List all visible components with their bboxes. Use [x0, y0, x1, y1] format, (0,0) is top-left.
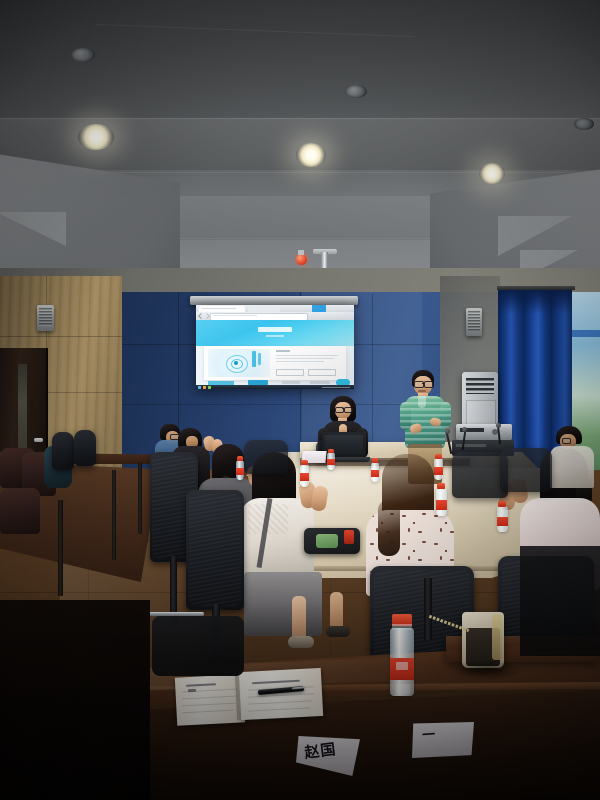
water-bottle-7-cap [372, 458, 378, 463]
card-body-line-3 [276, 361, 324, 362]
card-button-2[interactable] [308, 369, 336, 376]
empty-chair-5[interactable] [52, 432, 74, 470]
page-hero-banner [196, 320, 354, 346]
taskbar-app-icon-2[interactable] [208, 386, 211, 389]
seated-presenter-glasses-bridge [342, 408, 344, 409]
water-bottle-6-cap [498, 501, 506, 507]
downlight-left [78, 124, 114, 150]
foreground-shadow-left [0, 600, 150, 800]
taskbar-app-icon-1[interactable] [203, 386, 206, 389]
taskbar-start-icon[interactable] [198, 386, 201, 389]
water-bottle-3-cap [328, 449, 334, 453]
side-table-leg-2 [58, 500, 63, 596]
standing-presenter-glasses-right [424, 381, 434, 388]
water-bottle-6-label [497, 517, 508, 526]
standing-presenter-arm-right-stripes [440, 402, 451, 428]
product-vertical-text-2 [258, 353, 261, 365]
water-bottle-5-cap [435, 454, 442, 459]
downlight-center [296, 143, 326, 167]
wall-speaker-left-grill [39, 308, 52, 326]
name-card-front-right: 一 [412, 722, 474, 758]
water-bottle-1-label [236, 468, 244, 475]
water-bottle-2-label [300, 473, 309, 481]
audience-member-7-shirt [550, 446, 594, 488]
handbag-shadow [450, 660, 522, 680]
far-chair-1[interactable] [244, 440, 288, 474]
card-body-line-2 [276, 358, 334, 359]
recessed-can-right [574, 118, 594, 130]
audience-chair-right-1-stem [424, 578, 432, 640]
browser-url-text [213, 315, 257, 316]
handbag-gold-trim [492, 614, 502, 660]
wood-wall-seam-1 [0, 336, 122, 337]
hero-heading [258, 327, 292, 332]
audience-member-7-glasses [562, 438, 571, 444]
empty-chair-3[interactable] [0, 488, 40, 534]
standing-presenter-arm-left-stripes [400, 402, 411, 430]
hero-subheading [266, 335, 284, 337]
audience-member-4-skirt [244, 572, 322, 636]
water-bottle-4-label [436, 500, 447, 510]
water-bottle-8-neck [392, 624, 412, 630]
door-glass-panel [18, 364, 27, 456]
card-body-line-1 [276, 355, 338, 356]
standing-presenter-glasses-bridge [422, 383, 424, 384]
standing-presenter-smile [418, 390, 426, 392]
water-bottle-3-label [327, 459, 335, 465]
screen-roller-housing [190, 296, 358, 305]
seated-presenter-glasses-right [344, 407, 353, 413]
door-handle[interactable] [34, 438, 43, 442]
water-bottle-1-cap [237, 456, 243, 461]
amp-rack-vent [456, 444, 486, 447]
product-dot [234, 361, 238, 365]
microphone-head-3 [496, 423, 501, 428]
audience-member-5-shoe [326, 626, 350, 637]
recessed-can-left [71, 48, 95, 62]
recessed-can-center [345, 85, 367, 98]
taskbar-clock [322, 387, 350, 388]
table-red-item [344, 530, 354, 544]
water-bottle-2-cap [301, 460, 308, 465]
water-bottle-4-cap [437, 483, 445, 489]
card-button-1[interactable] [276, 369, 304, 376]
audience-member-5-hair-strand [378, 500, 400, 556]
water-bottle-7-label [371, 470, 379, 477]
side-table-leg-3 [138, 462, 142, 534]
stat-label-2 [282, 381, 300, 384]
stat-label-3 [310, 381, 330, 384]
card-title [276, 350, 290, 352]
fire-sprinkler-head [296, 254, 307, 265]
water-bottle-8-label-text [396, 662, 408, 670]
side-table-leg-1 [112, 470, 116, 560]
sprinkler-stem [298, 250, 304, 255]
microphone-head-2 [462, 427, 467, 432]
empty-chair-6[interactable] [74, 430, 96, 466]
ceiling-seam-1 [0, 118, 600, 119]
notebook-page-number [188, 689, 196, 692]
conference-room-photo: 赵国 一 [0, 0, 600, 800]
microphone-head-1 [445, 429, 450, 434]
curtain-valance [498, 288, 572, 314]
wall-speaker-right-grill [468, 311, 480, 331]
water-bottle-5-label [434, 467, 443, 475]
foreground-chair-right [520, 546, 600, 656]
audience-member-4-shoe [288, 636, 314, 648]
standing-presenter-belt [408, 444, 442, 448]
ac-vent-grill [466, 378, 494, 394]
audience-chair-left-2-mesh [189, 494, 241, 606]
soffit-facet-left [0, 212, 66, 246]
table-bag-item [316, 534, 338, 548]
far-chair-3[interactable] [500, 448, 552, 492]
curtain-rod [497, 286, 575, 290]
foreground-chair-left[interactable] [152, 616, 244, 676]
audience-member-4-leg [292, 596, 306, 640]
water-bottle-8-base-reflection [396, 684, 410, 694]
downlight-right [479, 163, 505, 184]
product-vertical-text [252, 351, 256, 367]
browser-window-control[interactable] [312, 305, 326, 312]
standing-presenter-collar [418, 396, 426, 408]
browser-tab-title [202, 308, 236, 309]
projection-screen [196, 305, 354, 389]
